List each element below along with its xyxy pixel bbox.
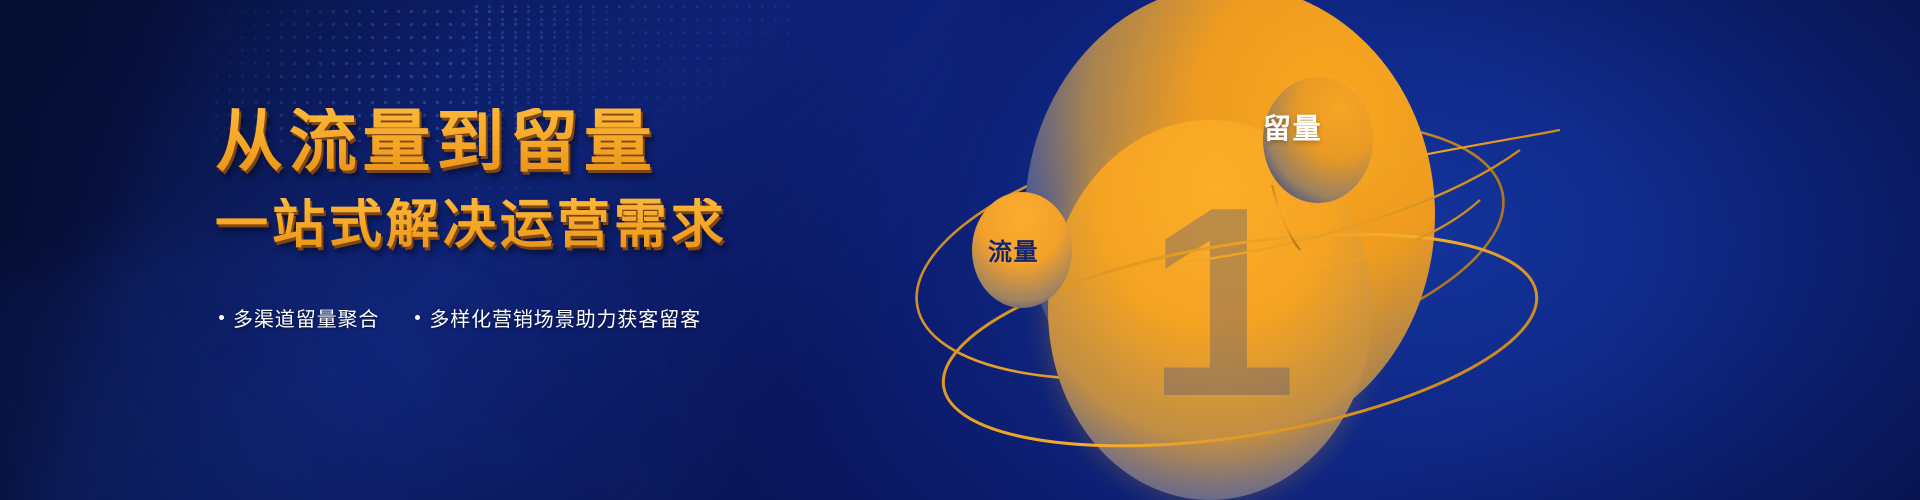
promo-banner: 从流量到留量 一站式解决运营需求 多渠道留量聚合 多样化营销场景助力获客留客 — [0, 0, 1920, 500]
copy-block: 从流量到留量 一站式解决运营需求 多渠道留量聚合 多样化营销场景助力获客留客 — [215, 108, 975, 332]
list-item: 多渠道留量聚合 — [219, 303, 379, 332]
sphere-liuliang-label: 流量 — [988, 232, 1039, 267]
page-subtitle: 一站式解决运营需求 — [215, 198, 975, 251]
list-item-label: 多样化营销场景助力获客留客 — [429, 303, 701, 332]
list-item: 多样化营销场景助力获客留客 — [415, 303, 701, 332]
bullet-dot-icon — [219, 315, 224, 320]
page-title: 从流量到留量 — [215, 108, 975, 176]
hero-illustration: 1 流量 留量 — [880, 0, 1920, 500]
list-item-label: 多渠道留量聚合 — [233, 303, 379, 332]
feature-bullet-list: 多渠道留量聚合 多样化营销场景助力获客留客 — [219, 303, 975, 332]
bullet-dot-icon — [415, 315, 420, 320]
sphere-liangliang-label: 留量 — [1263, 107, 1322, 147]
